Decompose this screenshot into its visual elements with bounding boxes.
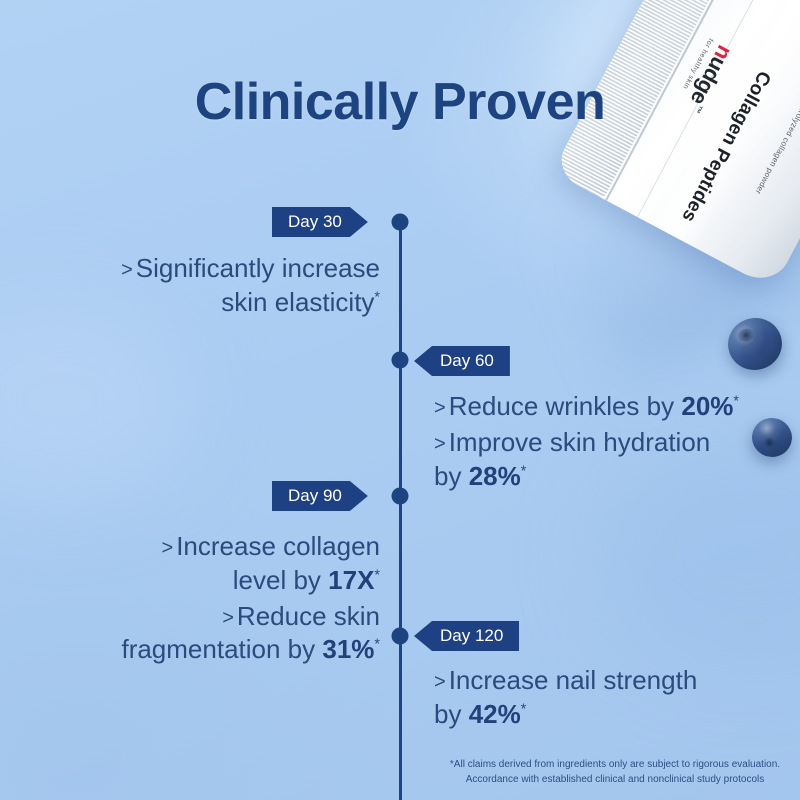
footnote-marker: * [374, 289, 380, 305]
timeline-axis [399, 222, 402, 800]
milestone-badge-label: Day 30 [288, 212, 342, 232]
chevron-icon: > [434, 671, 446, 693]
claim-highlight: 17X [328, 565, 374, 595]
timeline-dot-day90 [392, 488, 409, 505]
footnote-marker: * [521, 701, 527, 717]
claim-text-cont: level by [233, 565, 321, 595]
claim-item: >Significantly increase skin elasticity* [50, 252, 380, 320]
claim-highlight: 20% [681, 391, 733, 421]
claim-item: >Reduce wrinkles by 20%* [434, 390, 784, 424]
claim-group-day90: >Increase collagen level by 17X* >Reduce… [40, 530, 380, 669]
claim-text: Reduce wrinkles by [449, 391, 674, 421]
claim-highlight: 42% [469, 699, 521, 729]
footnote-marker: * [521, 463, 527, 479]
chevron-icon: > [222, 607, 234, 629]
claim-group-day60: >Reduce wrinkles by 20%* >Improve skin h… [434, 390, 784, 495]
claim-line-2: skin elasticity [221, 287, 374, 317]
timeline-dot-day60 [392, 352, 409, 369]
milestone-badge-day60[interactable]: Day 60 [414, 346, 510, 376]
claim-item: >Improve skin hydration by 28%* [434, 426, 784, 494]
claim-group-day120: >Increase nail strength by 42%* [434, 664, 784, 734]
footnote-disclaimer: *All claims derived from ingredients onl… [440, 758, 790, 787]
chevron-icon: > [121, 259, 133, 281]
footnote-marker: * [374, 637, 380, 653]
chevron-icon: > [162, 537, 174, 559]
claim-text: Increase nail strength [449, 665, 698, 695]
claim-item: >Increase nail strength by 42%* [434, 664, 784, 732]
footnote-marker: * [374, 567, 380, 583]
milestone-badge-label: Day 120 [440, 626, 503, 646]
milestone-badge-day90[interactable]: Day 90 [272, 481, 368, 511]
footnote-line-2: Accordance with established clinical and… [440, 773, 790, 788]
claim-text: Reduce skin [237, 601, 380, 631]
milestone-badge-label: Day 60 [440, 351, 494, 371]
claim-text-cont: fragmentation by [121, 634, 315, 664]
claim-item: >Reduce skin fragmentation by 31%* [40, 600, 380, 668]
page-title: Clinically Proven [0, 72, 800, 132]
infographic-canvas: nudge™ for healthy skin Collagen Peptide… [0, 0, 800, 800]
chevron-icon: > [434, 397, 446, 419]
milestone-badge-day30[interactable]: Day 30 [272, 207, 368, 237]
milestone-badge-day120[interactable]: Day 120 [414, 621, 519, 651]
claim-text: Improve skin hydration [449, 427, 711, 457]
chevron-icon: > [434, 433, 446, 455]
claim-text-cont: by [434, 461, 461, 491]
claim-highlight: 28% [469, 461, 521, 491]
background-shade-left [0, 300, 190, 500]
milestone-badge-label: Day 90 [288, 486, 342, 506]
claim-highlight: 31% [322, 634, 374, 664]
claim-text-cont: by [434, 699, 461, 729]
timeline-dot-day30 [392, 214, 409, 231]
footnote-line-1: *All claims derived from ingredients onl… [440, 758, 790, 773]
footnote-marker: * [733, 393, 739, 409]
timeline-dot-day120 [392, 628, 409, 645]
claim-text: Increase collagen [176, 531, 380, 561]
claim-line-1: Significantly increase [136, 253, 380, 283]
claim-item: >Increase collagen level by 17X* [40, 530, 380, 598]
claim-group-day30: >Significantly increase skin elasticity* [50, 252, 380, 322]
